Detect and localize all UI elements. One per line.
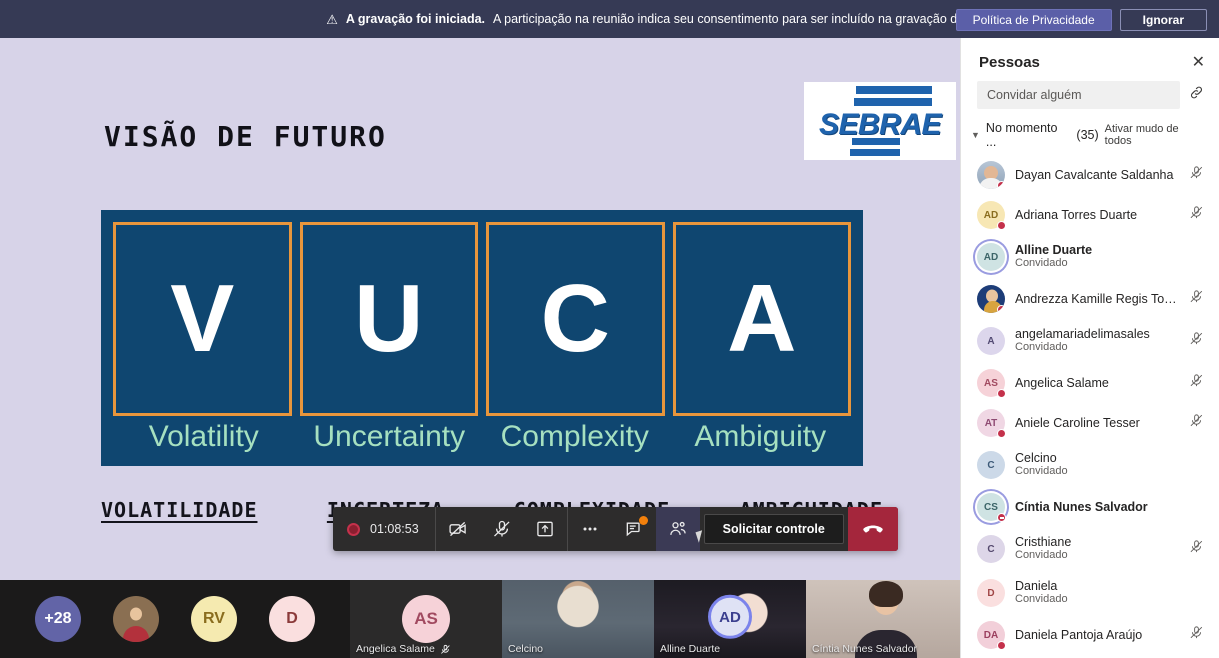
people-panel: Pessoas ✕ ▼ No momento ... (35) Ativar m… xyxy=(960,38,1219,658)
mic-off-icon[interactable] xyxy=(1189,289,1205,309)
vuca-box: A xyxy=(673,222,852,416)
participant-avatar: D xyxy=(269,596,315,642)
request-control-button[interactable]: Solicitar controle xyxy=(704,514,844,544)
overflow-count-avatar: +28 xyxy=(35,596,81,642)
participant-tile-name: Angelica Salame xyxy=(356,643,435,655)
chat-unread-badge xyxy=(639,516,648,525)
participant-name: Celcino xyxy=(1015,451,1179,465)
avatar: C xyxy=(977,451,1005,479)
people-panel-header: Pessoas ✕ xyxy=(961,38,1219,81)
close-icon[interactable]: ✕ xyxy=(1192,55,1205,71)
participant-name: Daniela Pantoja Araújo xyxy=(1015,628,1179,642)
share-screen-button[interactable] xyxy=(524,507,568,551)
participant-row[interactable]: AS Angelica Salame xyxy=(961,363,1219,403)
status-badge xyxy=(997,513,1006,522)
avatar: C xyxy=(977,535,1005,563)
chevron-down-icon[interactable]: ▼ xyxy=(971,130,980,140)
avatar: A xyxy=(977,327,1005,355)
vuca-portuguese-word: VOLATILIDADE xyxy=(101,498,258,522)
mic-off-icon[interactable] xyxy=(1189,205,1205,225)
avatar: AD xyxy=(977,243,1005,271)
participant-row[interactable]: DA Daniela Pantoja Araújo xyxy=(961,615,1219,655)
participant-avatar: RV xyxy=(191,596,237,642)
participant-row[interactable]: AT Aniele Caroline Tesser xyxy=(961,403,1219,443)
participant-name: Adriana Torres Duarte xyxy=(1015,208,1179,222)
invite-input[interactable] xyxy=(977,81,1180,109)
participant-tile-name-wrap: Celcino xyxy=(508,643,543,655)
camera-off-button[interactable] xyxy=(436,507,480,551)
participant-tile[interactable]: AD Alline Duarte xyxy=(654,580,806,658)
participant-filmstrip: +28 RV D AS Angelica Salame Celcino xyxy=(0,580,960,658)
participant-row[interactable]: C Celcino Convidado xyxy=(961,443,1219,487)
sebrae-logo-text: SEBRAE xyxy=(804,108,956,142)
participant-name: angelamariadelimasales xyxy=(1015,327,1179,341)
vuca-box: V xyxy=(113,222,292,416)
participant-row[interactable]: AD Adriana Torres Duarte xyxy=(961,195,1219,235)
privacy-policy-button[interactable]: Política de Privacidade xyxy=(956,9,1112,31)
participant-row[interactable]: D Daniela Convidado xyxy=(961,571,1219,615)
mic-off-button[interactable] xyxy=(480,507,524,551)
participants-section-header[interactable]: ▼ No momento ... (35) Ativar mudo de tod… xyxy=(961,109,1219,155)
meeting-control-bar: 01:08:53 xyxy=(333,507,898,551)
participant-avatar: AD xyxy=(708,595,752,639)
overflow-participants-tile[interactable]: +28 RV D xyxy=(0,580,350,658)
participant-tile[interactable]: Celcino xyxy=(502,580,654,658)
vuca-letter: V xyxy=(170,271,234,367)
people-button[interactable] xyxy=(656,507,700,551)
chat-button[interactable] xyxy=(612,507,656,551)
participant-tile-name: Celcino xyxy=(508,643,543,655)
participants-list: Dayan Cavalcante Saldanha AD Adriana Tor… xyxy=(961,155,1219,655)
mic-off-icon[interactable] xyxy=(1189,413,1205,433)
participant-avatar xyxy=(113,596,159,642)
participant-name: Angelica Salame xyxy=(1015,376,1179,390)
ignore-button[interactable]: Ignorar xyxy=(1120,9,1207,31)
participant-role: Convidado xyxy=(1015,465,1179,478)
participant-role: Convidado xyxy=(1015,549,1179,562)
avatar: DA xyxy=(977,621,1005,649)
participant-name: Daniela xyxy=(1015,579,1179,593)
participant-tile[interactable]: AS Angelica Salame xyxy=(350,580,502,658)
vuca-box: C xyxy=(486,222,665,416)
vuca-english-word: Ambiguity xyxy=(668,420,854,454)
participant-row[interactable]: CS Cíntia Nunes Salvador xyxy=(961,487,1219,527)
participant-tile-name: Cíntia Nunes Salvador xyxy=(812,643,917,655)
avatar: AS xyxy=(977,369,1005,397)
mic-off-icon xyxy=(440,644,451,655)
status-badge xyxy=(997,389,1006,398)
slide-title: VISÃO DE FUTURO xyxy=(104,120,387,153)
avatar: AT xyxy=(977,409,1005,437)
request-control-wrap: Solicitar controle xyxy=(700,507,848,551)
status-badge xyxy=(997,641,1006,650)
vuca-letter: U xyxy=(354,271,423,367)
warning-triangle-icon: ⚠ xyxy=(326,13,338,26)
vuca-english-word: Complexity xyxy=(482,420,668,454)
participant-tile-name: Alline Duarte xyxy=(660,643,720,655)
participant-tile-name-wrap: Angelica Salame xyxy=(356,643,451,655)
participant-role: Convidado xyxy=(1015,341,1179,354)
participant-role: Convidado xyxy=(1015,257,1179,270)
record-dot-icon xyxy=(347,523,360,536)
meeting-timer: 01:08:53 xyxy=(370,522,419,536)
invite-row xyxy=(961,81,1219,109)
avatar xyxy=(977,285,1005,313)
participant-name: Cristhiane xyxy=(1015,535,1179,549)
vuca-letter: A xyxy=(727,271,796,367)
more-options-button[interactable] xyxy=(568,507,612,551)
vuca-letter-boxes: V U C A xyxy=(101,210,863,420)
participant-name: Cíntia Nunes Salvador xyxy=(1015,500,1179,514)
participant-role: Convidado xyxy=(1015,593,1179,606)
avatar xyxy=(977,161,1005,189)
participant-row[interactable]: C Cristhiane Convidado xyxy=(961,527,1219,571)
status-badge xyxy=(997,181,1005,189)
status-badge xyxy=(997,429,1006,438)
participant-name: Alline Duarte xyxy=(1015,243,1179,257)
participant-name: Aniele Caroline Tesser xyxy=(1015,416,1179,430)
mic-off-icon[interactable] xyxy=(1189,373,1205,393)
recording-banner: ⚠ A gravação foi iniciada. A participaçã… xyxy=(0,0,1219,38)
status-badge xyxy=(997,221,1006,230)
vuca-english-word: Uncertainty xyxy=(297,420,483,454)
participant-name: Andrezza Kamille Regis Torres xyxy=(1015,292,1179,306)
shared-content-stage[interactable]: VISÃO DE FUTURO SEBRAE V U C A Volatilit… xyxy=(0,38,960,580)
participant-row[interactable]: AD Alline Duarte Convidado xyxy=(961,235,1219,279)
participant-row[interactable]: A angelamariadelimasales Convidado xyxy=(961,319,1219,363)
sebrae-logo: SEBRAE xyxy=(804,82,956,160)
participant-row[interactable]: Dayan Cavalcante Saldanha xyxy=(961,155,1219,195)
mic-off-icon[interactable] xyxy=(1189,539,1205,559)
mic-off-icon[interactable] xyxy=(1189,331,1205,351)
participant-name: Dayan Cavalcante Saldanha xyxy=(1015,168,1179,182)
avatar: D xyxy=(977,579,1005,607)
vuca-box: U xyxy=(300,222,479,416)
banner-strong-text: A gravação foi iniciada. xyxy=(346,12,485,26)
banner-body-text: A participação na reunião indica seu con… xyxy=(493,12,1013,26)
participant-tile-name-wrap: Alline Duarte xyxy=(660,643,720,655)
mic-off-icon[interactable] xyxy=(1189,625,1205,645)
mute-all-button[interactable]: Ativar mudo de todos xyxy=(1105,123,1209,147)
participant-tile[interactable]: Cíntia Nunes Salvador xyxy=(806,580,960,658)
vuca-panel: V U C A Volatility Uncertainty Complexit… xyxy=(101,210,863,466)
participant-tile-name-wrap: Cíntia Nunes Salvador xyxy=(812,643,917,655)
section-count: (35) xyxy=(1076,128,1098,142)
vuca-english-words: Volatility Uncertainty Complexity Ambigu… xyxy=(101,420,863,466)
avatar: CS xyxy=(977,493,1005,521)
teams-meeting-window: ⚠ A gravação foi iniciada. A participaçã… xyxy=(0,0,1219,658)
share-link-icon[interactable] xyxy=(1188,84,1205,106)
section-label: No momento ... xyxy=(986,121,1069,149)
hangup-button[interactable] xyxy=(848,507,898,551)
people-panel-title: Pessoas xyxy=(979,54,1040,71)
status-badge xyxy=(997,305,1005,313)
participant-avatar: AS xyxy=(402,595,450,643)
participant-row[interactable]: Andrezza Kamille Regis Torres xyxy=(961,279,1219,319)
mic-off-icon[interactable] xyxy=(1189,165,1205,185)
recording-indicator: 01:08:53 xyxy=(333,507,436,551)
avatar: AD xyxy=(977,201,1005,229)
vuca-english-word: Volatility xyxy=(111,420,297,454)
vuca-letter: C xyxy=(541,271,610,367)
